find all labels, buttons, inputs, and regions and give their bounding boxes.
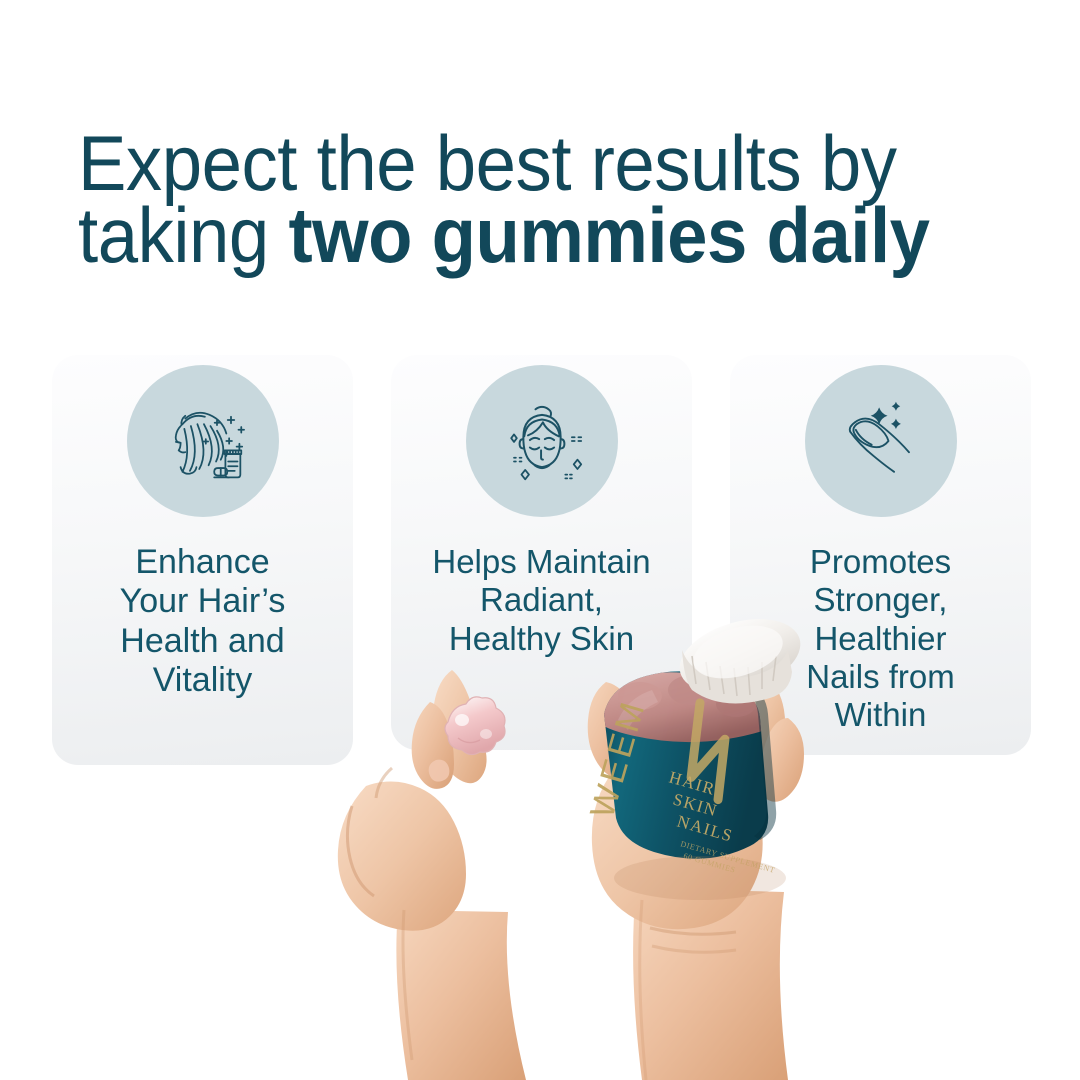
bottle-label-text: HAIR SKIN NAILS DIETARY SUPPLEMENT 60 GU… xyxy=(667,768,776,875)
fingernail-sparkle-icon xyxy=(805,365,957,517)
promo-graphic: Expect the best results by taking two gu… xyxy=(0,0,1080,1080)
svg-text:60 GUMMIES: 60 GUMMIES xyxy=(682,851,736,874)
hair-sparkle-bottle-icon xyxy=(127,365,279,517)
svg-text:SKIN: SKIN xyxy=(671,790,720,821)
headline-emphasis: two gummies daily xyxy=(288,191,929,279)
headline-line-2: taking two gummies daily xyxy=(78,200,937,272)
benefit-card-hair[interactable]: Enhance Your Hair’s Health and Vitality xyxy=(52,355,353,765)
benefit-card-title: Promotes Stronger, Healthier Nails from … xyxy=(800,543,961,734)
benefit-card-skin[interactable]: Helps Maintain Radiant, Healthy Skin xyxy=(391,355,692,750)
headline-line-1: Expect the best results by xyxy=(78,128,937,200)
svg-text:HAIR: HAIR xyxy=(667,768,718,799)
benefit-card-row: Enhance Your Hair’s Health and Vitality xyxy=(52,355,1032,765)
headline-plain: taking xyxy=(78,191,288,279)
glowing-face-icon xyxy=(466,365,618,517)
benefit-card-nails[interactable]: Promotes Stronger, Healthier Nails from … xyxy=(730,355,1031,755)
page-title: Expect the best results by taking two gu… xyxy=(78,128,937,272)
svg-text:DIETARY SUPPLEMENT: DIETARY SUPPLEMENT xyxy=(679,839,776,875)
benefit-card-title: Enhance Your Hair’s Health and Vitality xyxy=(114,543,292,701)
benefit-card-title: Helps Maintain Radiant, Healthy Skin xyxy=(426,543,656,658)
svg-text:NAILS: NAILS xyxy=(675,812,736,846)
